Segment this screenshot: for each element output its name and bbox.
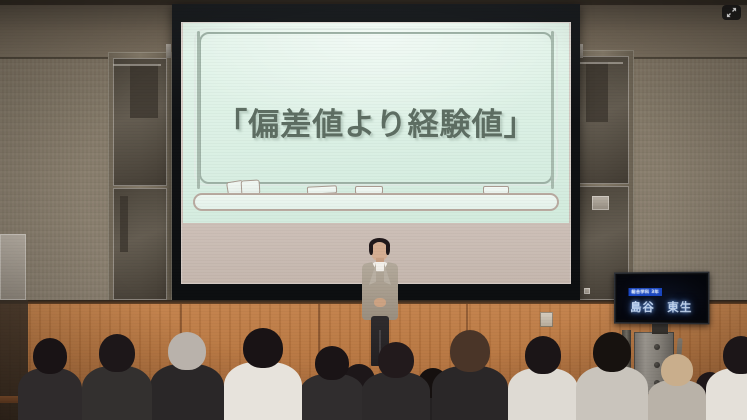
chalk-tray (193, 193, 559, 211)
rack-knob-3 (654, 380, 660, 386)
presenter-hands (374, 298, 386, 307)
left-pane-shadow-mid (120, 196, 128, 252)
equipment-pole (622, 330, 631, 394)
right-wall-marker (584, 288, 590, 294)
rack-knob-1 (654, 344, 660, 350)
monitor-person-name: 島谷 東生 (617, 299, 707, 315)
left-pane-shadow-upper (130, 64, 158, 118)
right-pane-rail (577, 62, 623, 64)
screen-hanger-left (166, 44, 171, 58)
presenter-hair-right (386, 244, 390, 255)
left-wall-panel (0, 234, 26, 300)
expand-arrows-icon[interactable] (722, 5, 741, 20)
presenter-leg-seam (379, 330, 381, 366)
right-wall-switchplate (592, 196, 609, 210)
slide-title: 「偏差値より経験値」 (183, 99, 569, 144)
presenter-hair-left (369, 244, 373, 255)
rack-knob-2 (654, 362, 660, 368)
monitor-stand (652, 324, 668, 334)
video-frame: 「偏差値より経験値」 (0, 0, 747, 420)
right-pane-shadow-upper (586, 62, 608, 122)
stage-wall-outlet (540, 312, 553, 327)
monitor-affiliation-text: 総合学科 3年 (629, 288, 663, 296)
name-display-monitor: 総合学科 3年 島谷 東生 (614, 272, 709, 325)
presenter (355, 236, 403, 368)
projected-slide: 「偏差値より経験値」 (183, 23, 569, 223)
left-pane-rail (113, 64, 161, 66)
monitor-screen: 総合学科 3年 島谷 東生 (617, 275, 707, 321)
stage-floor-edge (0, 396, 747, 403)
